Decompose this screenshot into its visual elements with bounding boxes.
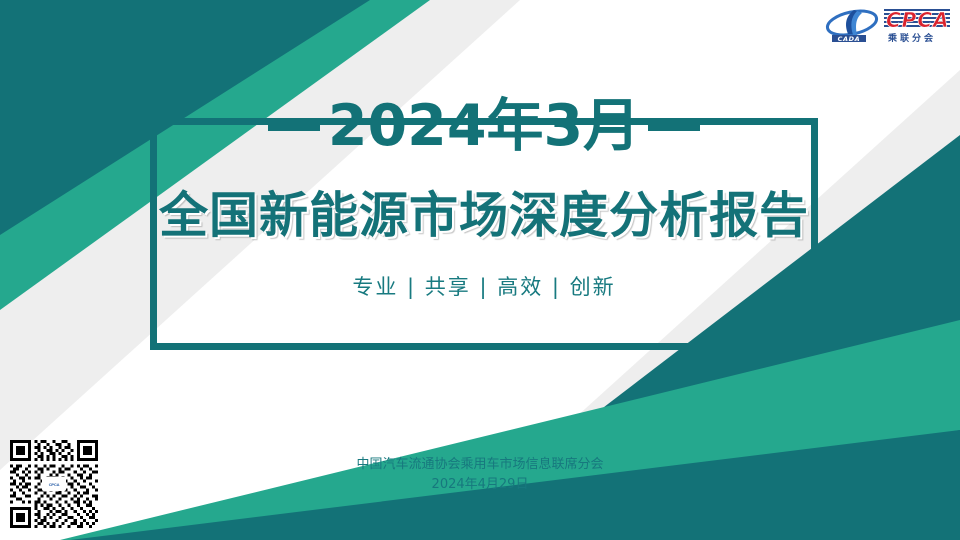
cpca-wordmark: CPCA 乘联分会 — [882, 7, 954, 45]
cpca-logo: CADA CPCA 乘联分会 — [824, 6, 954, 46]
svg-text:CADA: CADA — [838, 35, 861, 43]
cpca-brand-text: CPCA — [886, 8, 950, 32]
rule-right — [648, 122, 700, 131]
qr-center-logo-text: CPCA — [49, 482, 60, 487]
cpca-brand-cn-text: 乘联分会 — [888, 31, 936, 44]
tagline: 专业 | 共享 | 高效 | 创新 — [352, 271, 615, 301]
month-title-row: 2024年3月 — [150, 88, 818, 164]
cpca-swoosh-icon: CADA — [824, 8, 880, 44]
month-title: 2024年3月 — [324, 98, 644, 155]
footer: 中国汽车流通协会乘用车市场信息联席分会 2024年4月29日 — [0, 455, 960, 495]
footer-date: 2024年4月29日 — [0, 475, 960, 495]
presentation-slide: 2024年3月 全国新能源市场深度分析报告 专业 | 共享 | 高效 | 创新 … — [0, 0, 960, 540]
qr-code[interactable]: CPCA — [10, 440, 98, 528]
qr-center-logo: CPCA — [42, 477, 66, 491]
rule-left — [268, 122, 320, 131]
report-title: 全国新能源市场深度分析报告 — [159, 190, 809, 241]
footer-organization: 中国汽车流通协会乘用车市场信息联席分会 — [0, 455, 960, 475]
headline-block: 2024年3月 全国新能源市场深度分析报告 专业 | 共享 | 高效 | 创新 — [150, 88, 818, 350]
